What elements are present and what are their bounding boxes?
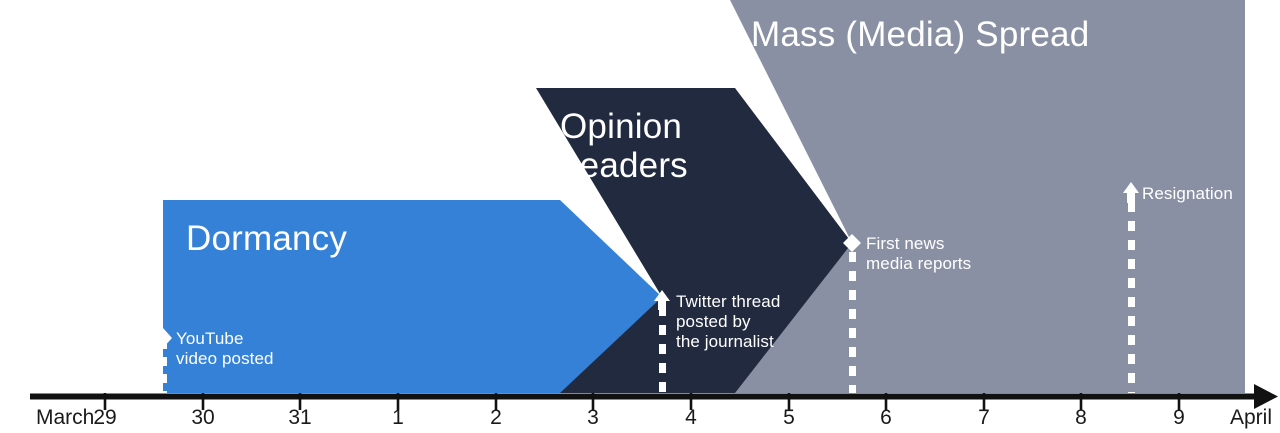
axis-tick-label-30: 30 <box>191 406 214 430</box>
axis-tick-label-4: 4 <box>685 406 697 430</box>
axis-label-march: March <box>36 406 94 430</box>
axis-label-april: April <box>1230 406 1272 430</box>
event-label-first-news: First news media reports <box>866 234 971 274</box>
axis-tick-label-7: 7 <box>978 406 990 430</box>
axis-tick-label-31: 31 <box>288 406 311 430</box>
axis-tick-label-6: 6 <box>880 406 892 430</box>
timeline-diagram: Dormancy Opinion Leaders Mass (Media) Sp… <box>0 0 1280 433</box>
event-label-twitter: Twitter thread posted by the journalist <box>676 292 780 352</box>
phase-title-opinion-leaders: Opinion Leaders <box>560 107 688 185</box>
axis-tick-label-2: 2 <box>490 406 502 430</box>
axis-tick-label-8: 8 <box>1075 406 1087 430</box>
axis-tick-label-1: 1 <box>392 406 404 430</box>
axis-tick-label-9: 9 <box>1173 406 1185 430</box>
axis-tick-label-29: 29 <box>93 406 116 430</box>
axis-tick-label-3: 3 <box>587 406 599 430</box>
phase-title-dormancy: Dormancy <box>186 219 347 258</box>
phase-title-mass-media-spread: Mass (Media) Spread <box>751 15 1089 54</box>
axis-tick-label-5: 5 <box>783 406 795 430</box>
event-label-resignation: Resignation <box>1142 184 1233 204</box>
event-label-youtube: YouTube video posted <box>176 329 274 369</box>
